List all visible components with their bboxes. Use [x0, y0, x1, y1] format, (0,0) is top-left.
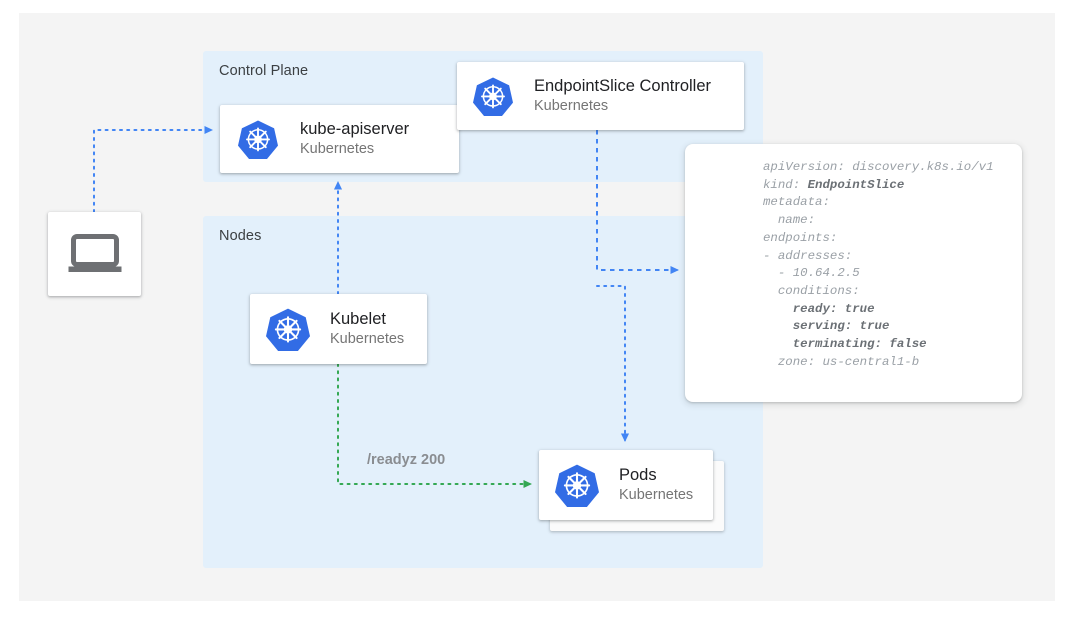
yaml-line: serving: true [763, 318, 994, 336]
kubernetes-icon [238, 119, 278, 159]
node-subtitle: Kubernetes [534, 98, 711, 115]
node-title: Pods [619, 466, 693, 485]
node-label-group: kube-apiserver Kubernetes [300, 120, 409, 159]
zone-nodes-label: Nodes [219, 228, 261, 244]
kubernetes-icon [555, 463, 599, 507]
node-subtitle: Kubernetes [300, 141, 409, 158]
yaml-line: apiVersion: discovery.k8s.io/v1 [763, 159, 994, 177]
yaml-line: conditions: [763, 283, 994, 301]
yaml-line: name: [763, 212, 994, 230]
node-kube-apiserver[interactable]: kube-apiserver Kubernetes [220, 105, 459, 173]
yaml-line: ready: true [763, 301, 994, 319]
node-title: kube-apiserver [300, 120, 409, 139]
yaml-line: metadata: [763, 194, 994, 212]
node-label-group: Kubelet Kubernetes [330, 310, 404, 349]
node-endpointslice-controller[interactable]: EndpointSlice Controller Kubernetes [457, 62, 744, 130]
yaml-code-block: apiVersion: discovery.k8s.io/v1kind: End… [763, 159, 994, 371]
yaml-line: kind: EndpointSlice [763, 177, 994, 195]
kubernetes-icon [473, 76, 513, 116]
edge-label-readyz: /readyz 200 [367, 452, 445, 468]
zone-control-plane-label: Control Plane [219, 63, 308, 79]
node-subtitle: Kubernetes [619, 487, 693, 504]
kubernetes-icon [266, 307, 310, 351]
node-client[interactable] [48, 212, 141, 296]
yaml-line: zone: us-central1-b [763, 354, 994, 372]
diagram-canvas: Control Plane Nodes [0, 0, 1065, 617]
yaml-line: terminating: false [763, 336, 994, 354]
yaml-line: - 10.64.2.5 [763, 265, 994, 283]
endpointslice-yaml-panel: apiVersion: discovery.k8s.io/v1kind: End… [685, 144, 1022, 402]
node-pods[interactable]: Pods Kubernetes [539, 450, 713, 520]
yaml-line: - addresses: [763, 248, 994, 266]
node-title: Kubelet [330, 310, 404, 329]
laptop-icon [67, 233, 123, 275]
node-subtitle: Kubernetes [330, 331, 404, 348]
node-label-group: EndpointSlice Controller Kubernetes [534, 77, 711, 116]
node-label-group: Pods Kubernetes [619, 466, 693, 505]
yaml-line: endpoints: [763, 230, 994, 248]
node-title: EndpointSlice Controller [534, 77, 711, 96]
node-kubelet[interactable]: Kubelet Kubernetes [250, 294, 427, 364]
